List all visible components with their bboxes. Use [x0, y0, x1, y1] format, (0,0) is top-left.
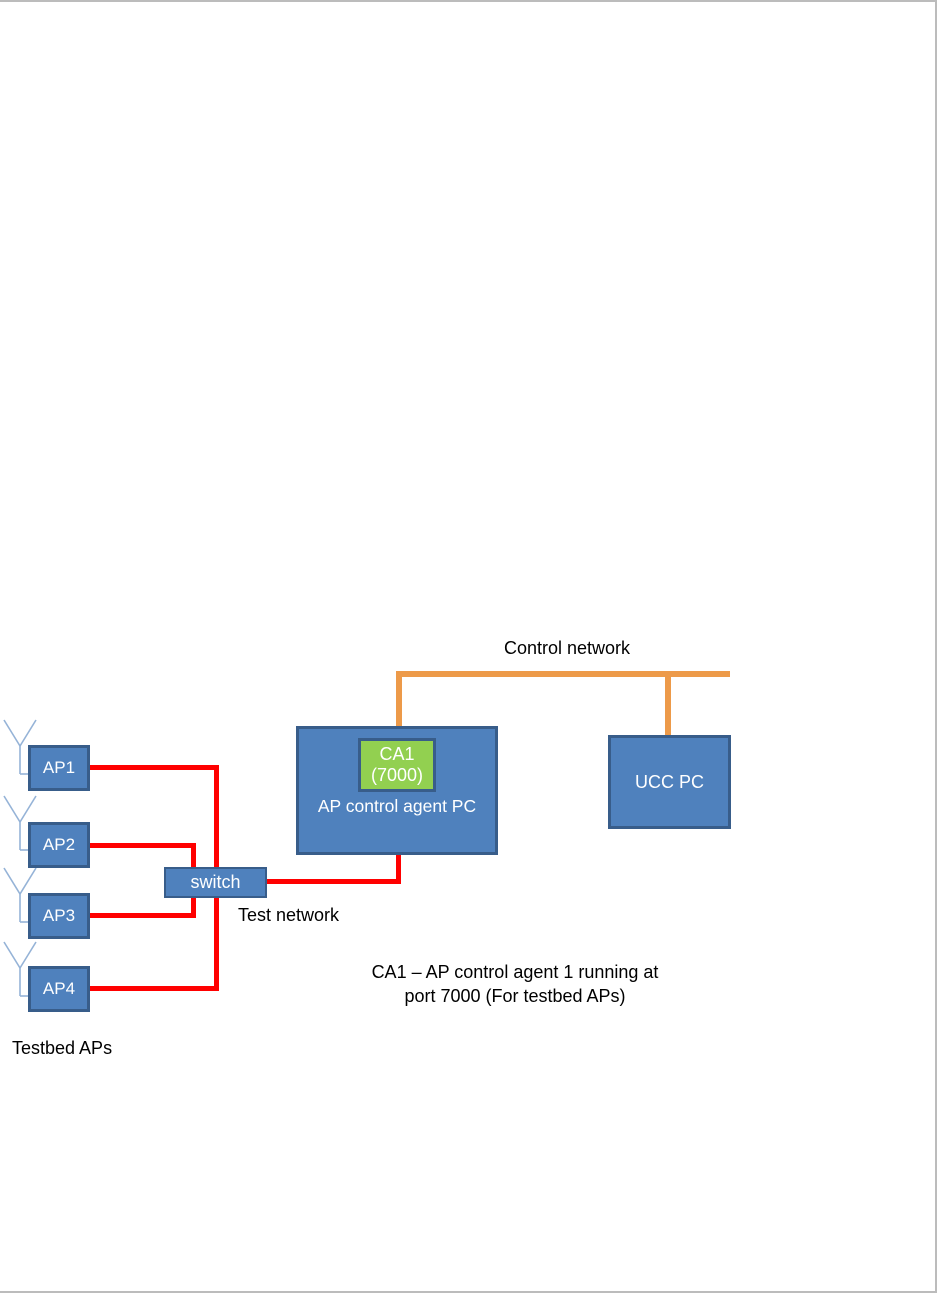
- switch-node[interactable]: switch: [164, 867, 267, 898]
- ca1-badge-name: CA1: [379, 744, 414, 765]
- ap-node-ap2[interactable]: AP2: [28, 822, 90, 868]
- testbed-aps-label: Testbed APs: [12, 1038, 112, 1059]
- ap-label: AP1: [43, 758, 75, 777]
- wire-control-bus: [396, 671, 730, 677]
- switch-label: switch: [190, 872, 240, 892]
- ap-node-ap3[interactable]: AP3: [28, 893, 90, 939]
- ap-label: AP3: [43, 906, 75, 925]
- ap-label: AP2: [43, 835, 75, 854]
- wire-control-drop-ucc: [665, 671, 671, 738]
- wire-switch-to-agent-horizontal: [264, 879, 401, 884]
- legend-line-1: CA1 – AP control agent 1 running at: [335, 960, 695, 984]
- ap-label: AP4: [43, 979, 75, 998]
- agent-pc-label: AP control agent PC: [318, 797, 476, 817]
- ucc-pc-label: UCC PC: [635, 772, 704, 792]
- legend-caption: CA1 – AP control agent 1 running at port…: [335, 960, 695, 1009]
- wire-ap4-vertical: [214, 893, 219, 991]
- wire-ap3-horizontal: [88, 913, 196, 918]
- test-network-label: Test network: [238, 905, 339, 926]
- ap-node-ap1[interactable]: AP1: [28, 745, 90, 791]
- diagram-canvas: AP1 AP2 AP3 AP4 switch CA1 (7000) AP con…: [0, 0, 937, 1293]
- wire-control-drop-agent: [396, 671, 402, 729]
- wire-ap1-vertical: [214, 765, 219, 872]
- ap-control-agent-pc-node[interactable]: CA1 (7000) AP control agent PC: [296, 726, 498, 855]
- control-network-label: Control network: [504, 638, 630, 659]
- ca1-badge-port: (7000): [371, 765, 423, 786]
- ap-node-ap4[interactable]: AP4: [28, 966, 90, 1012]
- ucc-pc-node[interactable]: UCC PC: [608, 735, 731, 829]
- legend-line-2: port 7000 (For testbed APs): [335, 984, 695, 1008]
- wire-ap2-horizontal: [88, 843, 196, 848]
- ca1-agent-badge[interactable]: CA1 (7000): [358, 738, 436, 792]
- wire-switch-to-agent-vertical: [396, 852, 401, 884]
- wire-ap4-horizontal: [88, 986, 219, 991]
- wire-ap1-horizontal: [88, 765, 219, 770]
